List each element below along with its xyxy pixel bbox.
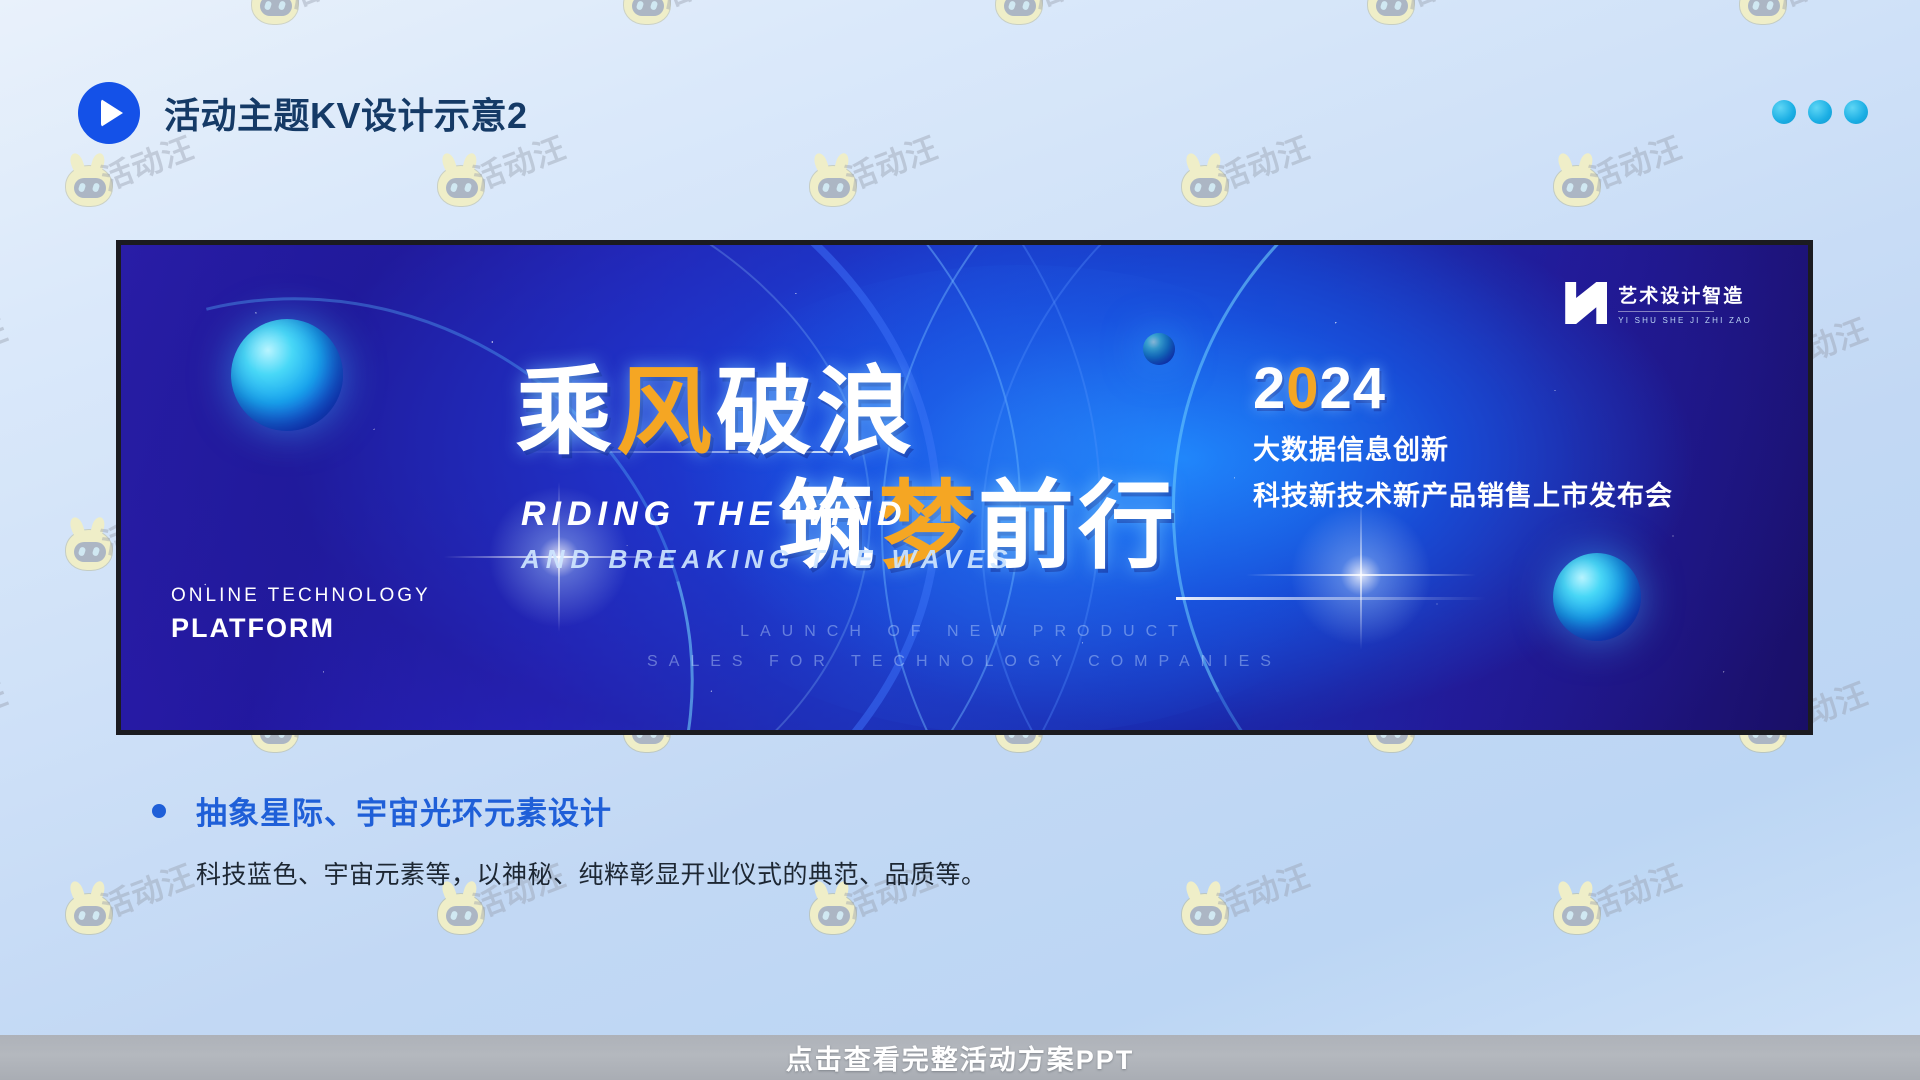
decorative-dots [1772, 100, 1868, 124]
watermark-bunny-icon [1740, 0, 1786, 24]
kv-english-line2: AND BREAKING THE WAVES [521, 544, 1014, 575]
watermark-bunny-icon [810, 166, 856, 206]
kv-side-line1: 大数据信息创新 [1253, 428, 1673, 467]
bottom-cta-bar[interactable]: 点击查看完整活动方案PPT [0, 1035, 1920, 1080]
watermark-bunny-icon [1368, 0, 1414, 24]
watermark-mark: 活动汪 [438, 152, 638, 226]
watermark-bunny-icon [252, 0, 298, 24]
kv-year: 2024 [1253, 360, 1673, 418]
watermark-text: 活动汪 [0, 0, 14, 17]
kv-faint-line2: SALES FOR TECHNOLOGY COMPANIES [121, 653, 1808, 671]
watermark-mark: 活动汪 [1368, 0, 1568, 44]
watermark-bunny-face [74, 178, 106, 198]
kv-banner: 乘风破浪 筑梦前行 RIDING THE WIND AND BREAKING T… [121, 245, 1808, 730]
watermark-mark: 活动汪 [810, 880, 1010, 954]
kv-faint-text: LAUNCH OF NEW PRODUCT SALES FOR TECHNOLO… [121, 623, 1808, 671]
kv-side-info: 2024 大数据信息创新 科技新技术新产品销售上市发布会 [1253, 360, 1673, 513]
caption-heading-row: 抽象星际、宇宙光环元素设计 [152, 788, 987, 833]
kv-headline-line1: 乘风破浪 [516, 365, 1178, 461]
watermark-text: 活动汪 [280, 0, 386, 17]
watermark-text: 活动汪 [0, 669, 14, 745]
play-triangle [101, 99, 123, 127]
watermark-bunny-face [1562, 178, 1594, 198]
watermark-mark: 活动汪 [1740, 0, 1920, 44]
watermark-bunny-face [1190, 178, 1222, 198]
watermark-mark: 活动汪 [624, 0, 824, 44]
watermark-bunny-face [1748, 0, 1780, 16]
watermark-text: 活动汪 [1024, 0, 1130, 17]
brand-monogram-icon [1565, 282, 1607, 324]
watermark-mark: 活动汪 [0, 334, 80, 408]
watermark-mark: 活动汪 [0, 0, 80, 44]
kv-english-subtitle: RIDING THE WIND AND BREAKING THE WAVES [521, 495, 1014, 575]
watermark-bunny-face [446, 906, 478, 926]
kv-headline-char-1: 乘 [516, 359, 616, 466]
watermark-bunny-face [1376, 0, 1408, 16]
kv-headline-char-2-accent: 风 [616, 359, 716, 466]
page-title: 活动主题KV设计示意2 [164, 87, 528, 139]
planet-sphere-small [1143, 333, 1175, 365]
watermark-bunny-icon [1182, 894, 1228, 934]
watermark-mark: 活动汪 [1554, 880, 1754, 954]
play-icon[interactable] [78, 82, 140, 144]
kv-platform-line1: ONLINE TECHNOLOGY [171, 585, 431, 607]
watermark-bunny-icon [66, 166, 112, 206]
kv-year-suffix: 24 [1320, 356, 1387, 421]
kv-year-prefix: 2 [1253, 356, 1286, 421]
watermark-bunny-icon [438, 894, 484, 934]
headline-rule-bottom [1176, 597, 1486, 600]
caption-body: 科技蓝色、宇宙元素等，以神秘、纯粹彰显开业仪式的典范、品质等。 [196, 855, 987, 891]
watermark-mark: 活动汪 [438, 880, 638, 954]
kv-brand-logo: 艺术设计智造 YI SHU SHE JI ZHI ZAO [1565, 281, 1752, 325]
watermark-bunny-icon [1554, 166, 1600, 206]
kv-headline-char-3: 破浪 [716, 359, 916, 466]
watermark-text: 活动汪 [1396, 0, 1502, 17]
watermark-bunny-face [74, 542, 106, 562]
watermark-bunny-face [260, 0, 292, 16]
watermark-bunny-icon [624, 0, 670, 24]
watermark-text: 活动汪 [0, 305, 14, 381]
brand-divider [1618, 311, 1714, 312]
kv-english-line1: RIDING THE WIND [521, 495, 1014, 534]
caption-block: 抽象星际、宇宙光环元素设计 科技蓝色、宇宙元素等，以神秘、纯粹彰显开业仪式的典范… [152, 788, 987, 891]
watermark-bunny-icon [66, 894, 112, 934]
watermark-text: 活动汪 [1582, 123, 1688, 199]
watermark-text: 活动汪 [1210, 123, 1316, 199]
watermark-bunny-icon [1182, 166, 1228, 206]
kv-faint-line1: LAUNCH OF NEW PRODUCT [121, 623, 1808, 641]
watermark-bunny-icon [438, 166, 484, 206]
kv-banner-frame[interactable]: 乘风破浪 筑梦前行 RIDING THE WIND AND BREAKING T… [116, 240, 1813, 735]
watermark-bunny-face [632, 0, 664, 16]
dot-2 [1808, 100, 1832, 124]
watermark-mark: 活动汪 [66, 880, 266, 954]
watermark-mark: 活动汪 [252, 0, 452, 44]
watermark-bunny-face [1004, 0, 1036, 16]
watermark-bunny-icon [1554, 894, 1600, 934]
watermark-text: 活动汪 [1210, 851, 1316, 927]
dot-1 [1772, 100, 1796, 124]
watermark-bunny-face [74, 906, 106, 926]
bottom-cta-label: 点击查看完整活动方案PPT [786, 1038, 1135, 1077]
brand-name-zh: 艺术设计智造 [1618, 281, 1752, 308]
watermark-bunny-icon [810, 894, 856, 934]
dot-3 [1844, 100, 1868, 124]
kv-year-glyph: 0 [1286, 356, 1319, 421]
watermark-mark: 活动汪 [1182, 880, 1382, 954]
watermark-mark: 活动汪 [1182, 152, 1382, 226]
brand-name-pinyin: YI SHU SHE JI ZHI ZAO [1618, 316, 1752, 325]
watermark-text: 活动汪 [1768, 0, 1874, 17]
page-header: 活动主题KV设计示意2 [78, 82, 528, 144]
bullet-icon [152, 804, 166, 818]
watermark-mark: 活动汪 [996, 0, 1196, 44]
watermark-mark: 活动汪 [0, 698, 80, 772]
watermark-bunny-face [1190, 906, 1222, 926]
watermark-text: 活动汪 [652, 0, 758, 17]
watermark-bunny-face [446, 178, 478, 198]
brand-text: 艺术设计智造 YI SHU SHE JI ZHI ZAO [1618, 281, 1752, 325]
watermark-bunny-face [818, 178, 850, 198]
watermark-bunny-face [818, 906, 850, 926]
kv-side-line2: 科技新技术新产品销售上市发布会 [1253, 474, 1673, 513]
watermark-mark: 活动汪 [1554, 152, 1754, 226]
watermark-bunny-icon [996, 0, 1042, 24]
watermark-mark: 活动汪 [810, 152, 1010, 226]
watermark-bunny-face [1562, 906, 1594, 926]
planet-sphere-left [231, 319, 343, 431]
watermark-bunny-icon [66, 530, 112, 570]
watermark-mark: 活动汪 [66, 152, 266, 226]
watermark-text: 活动汪 [1582, 851, 1688, 927]
caption-heading: 抽象星际、宇宙光环元素设计 [196, 788, 612, 833]
watermark-text: 活动汪 [838, 123, 944, 199]
